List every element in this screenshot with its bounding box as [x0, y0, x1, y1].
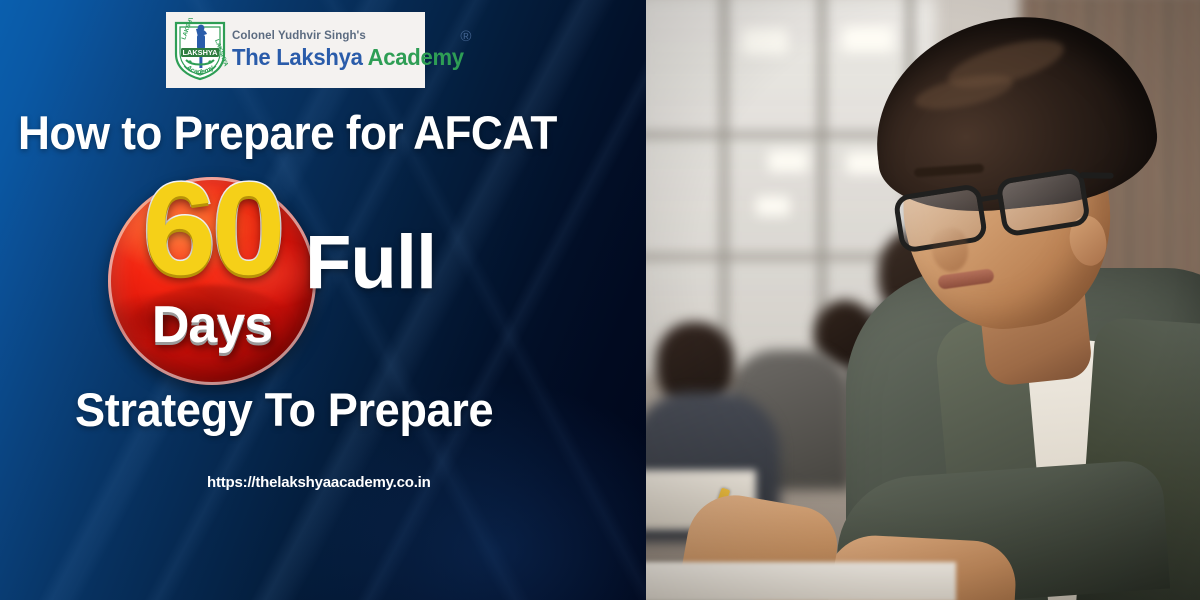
logo-name-green: Academy [368, 44, 464, 70]
lakshya-shield-emblem-icon: LAKSHYA LAKSHYA LAKSHYA Academy [172, 18, 228, 82]
left-content-panel: LAKSHYA LAKSHYA LAKSHYA Academy Colonel … [0, 0, 646, 600]
logo-wordmark: Colonel Yudhvir Singh's The Lakshya Acad… [228, 31, 473, 69]
ceiling-light [742, 28, 788, 54]
ceiling-light [768, 150, 808, 172]
svg-text:LAKSHYA: LAKSHYA [182, 48, 218, 57]
logo-tagline: Colonel Yudhvir Singh's [232, 31, 473, 43]
desk-surface [646, 562, 956, 600]
afcat-promo-banner: LAKSHYA LAKSHYA LAKSHYA Academy Colonel … [0, 0, 1200, 600]
registered-trademark-icon: ® [460, 29, 471, 44]
headline-subtitle: Strategy To Prepare [75, 382, 493, 437]
eyeglass-temple [1080, 172, 1114, 179]
logo-name-blue: The Lakshya [232, 44, 368, 70]
brand-logo[interactable]: LAKSHYA LAKSHYA LAKSHYA Academy Colonel … [166, 12, 425, 88]
website-url[interactable]: https://thelakshyaacademy.co.in [207, 474, 431, 491]
eyeglass-lens-right [995, 167, 1091, 238]
student-photo [646, 0, 1200, 600]
headline-emphasis: Full [305, 225, 436, 301]
page-title: How to Prepare for AFCAT [18, 105, 608, 160]
ceiling-light [842, 26, 894, 52]
badge-unit-label: Days [108, 299, 316, 351]
logo-name: The Lakshya Academy [232, 46, 464, 69]
ceiling-light [756, 196, 790, 216]
badge-number: 60 [108, 163, 316, 295]
sixty-days-badge: 60 Days [108, 177, 316, 385]
